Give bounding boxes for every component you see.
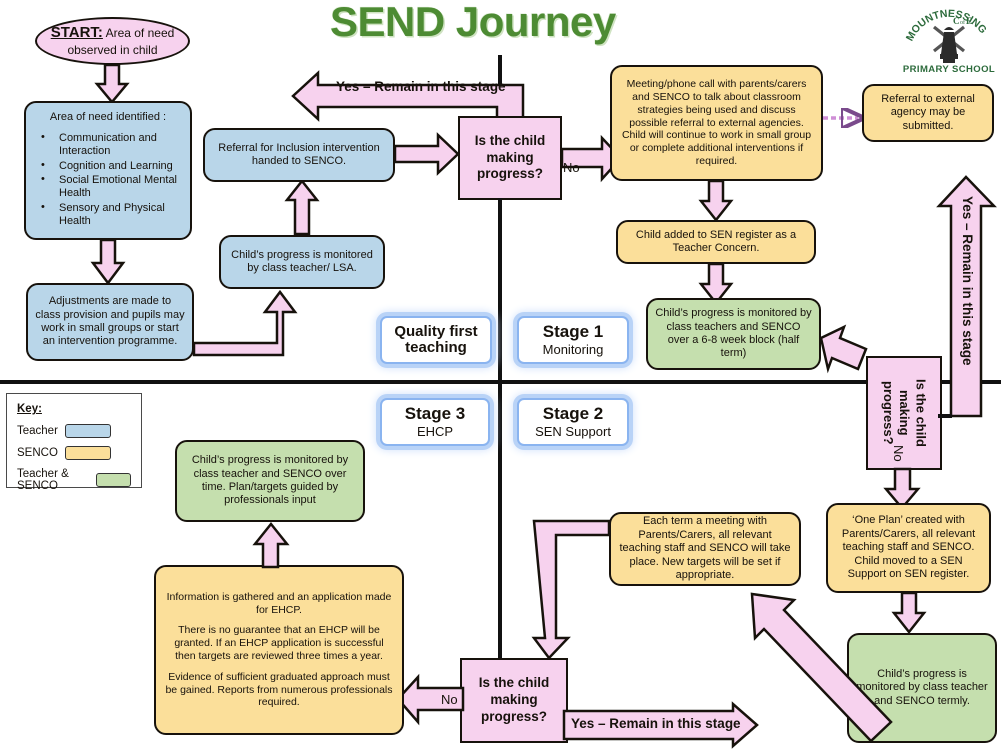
label-yes-remain-stage1: Yes – Remain in this stage <box>336 79 506 94</box>
box-progress-6-8-week: Child’s progress is monitored by class t… <box>646 298 821 370</box>
area-of-need-list: Communication and Interaction Cognition … <box>33 132 183 229</box>
box-one-plan: ‘One Plan’ created with Parents/Carers, … <box>826 503 991 593</box>
arrow-each-term-to-decision3 <box>533 518 611 660</box>
chip-subtitle: Monitoring <box>543 342 604 358</box>
chip-title: Stage 2 <box>543 405 603 424</box>
divider-vertical-lower <box>498 383 502 688</box>
start-line2: observed in child <box>67 43 157 57</box>
key-swatch-teacher-senco <box>96 473 131 487</box>
box-area-of-need: Area of need identified : Communication … <box>24 101 192 240</box>
connector-decision2-to-yes <box>938 414 952 418</box>
box-progress-monitored-lsa: Child’s progress is monitored by class t… <box>219 235 385 289</box>
school-logo: MOUNTNESSING C of E PRIMARY SCHOOL <box>900 2 998 74</box>
svg-text:of: of <box>960 19 965 26</box>
decision-making-progress-3: Is the child making progress? <box>460 658 568 743</box>
list-item: Sensory and Physical Health <box>33 202 183 229</box>
ehcp-para-3: Evidence of sufficient graduated approac… <box>163 671 395 709</box>
key-row-teacher: Teacher <box>17 424 131 438</box>
chip-subtitle: teaching <box>405 340 467 357</box>
ehcp-para-2: There is no guarantee that an EHCP will … <box>163 624 395 662</box>
start-node: START: Area of need observed in child <box>35 17 190 65</box>
key-label: Teacher & SENCO <box>17 468 89 492</box>
chip-title: Stage 3 <box>405 405 465 424</box>
arrow-adjustments-to-progress-lsa <box>194 291 314 366</box>
key-swatch-teacher <box>65 424 111 438</box>
start-rest: Area of need <box>103 26 174 40</box>
arrow-one-plan-to-progress-termly <box>893 592 925 634</box>
dashed-arrow-to-external <box>822 108 866 133</box>
list-item: Cognition and Learning <box>33 160 183 173</box>
chip-title: Stage 1 <box>543 323 603 342</box>
label-yes-remain-stage2: Yes – Remain in this stage <box>960 196 975 366</box>
box-referral-inclusion: Referral for Inclusion intervention hand… <box>203 128 395 182</box>
box-progress-plan-targets: Child’s progress is monitored by class t… <box>175 440 365 522</box>
key-legend: Key: Teacher SENCO Teacher & SENCO <box>6 393 142 488</box>
svg-text:E: E <box>966 16 972 26</box>
arrow-start-to-area <box>96 64 128 104</box>
key-row-teacher-senco: Teacher & SENCO <box>17 468 131 492</box>
chip-subtitle: EHCP <box>417 424 453 440</box>
arrow-ehcp-to-progress-plan <box>254 523 288 569</box>
chip-title: Quality first <box>394 324 477 341</box>
box-each-term-meeting: Each term a meeting with Parents/Carers,… <box>609 512 801 586</box>
svg-text:C: C <box>953 16 960 26</box>
connector-decision1-down <box>498 198 502 380</box>
key-title: Key: <box>17 403 131 415</box>
decision-making-progress-1: Is the child making progress? <box>458 116 562 200</box>
chip-quality-first-teaching: Quality first teaching <box>380 316 492 364</box>
box-adjustments: Adjustments are made to class provision … <box>26 283 194 361</box>
send-journey-diagram: SEND Journey MOUNTNESSING C of E PRIMARY… <box>0 0 1001 755</box>
arrow-progress-to-referral <box>286 180 318 236</box>
chip-stage-3: Stage 3 EHCP <box>380 398 490 446</box>
key-label: Teacher <box>17 425 58 437</box>
svg-text:PRIMARY SCHOOL: PRIMARY SCHOOL <box>903 64 995 74</box>
box-referral-external-agency: Referral to external agency may be submi… <box>862 84 994 142</box>
label-no-1: No <box>563 160 580 175</box>
page-title: SEND Journey <box>330 0 616 46</box>
start-label: START: <box>51 24 103 41</box>
list-item: Communication and Interaction <box>33 132 183 159</box>
box-sen-register-teacher-concern: Child added to SEN register as a Teacher… <box>616 220 816 264</box>
key-label: SENCO <box>17 447 58 459</box>
arrow-meeting-to-sen-register <box>700 180 732 222</box>
arrow-diagonal-to-each-term <box>744 588 894 748</box>
chip-stage-1: Stage 1 Monitoring <box>517 316 629 364</box>
list-item: Social Emotional Mental Health <box>33 174 183 201</box>
label-no-2: No <box>891 445 906 462</box>
arrow-area-to-adjustments <box>92 239 124 285</box>
area-of-need-heading: Area of need identified : <box>33 111 183 124</box>
chip-stage-2: Stage 2 SEN Support <box>517 398 629 446</box>
key-row-senco: SENCO <box>17 446 131 460</box>
arrow-referral-to-decision1 <box>394 134 460 176</box>
key-swatch-senco <box>65 446 111 460</box>
label-no-3: No <box>441 692 458 707</box>
box-meeting-phone-call: Meeting/phone call with parents/carers a… <box>610 65 823 181</box>
box-ehcp-information: Information is gathered and an applicati… <box>154 565 404 735</box>
chip-subtitle: SEN Support <box>535 424 611 440</box>
ehcp-para-1: Information is gathered and an applicati… <box>163 591 395 617</box>
label-yes-remain-stage3: Yes – Remain in this stage <box>571 716 741 731</box>
